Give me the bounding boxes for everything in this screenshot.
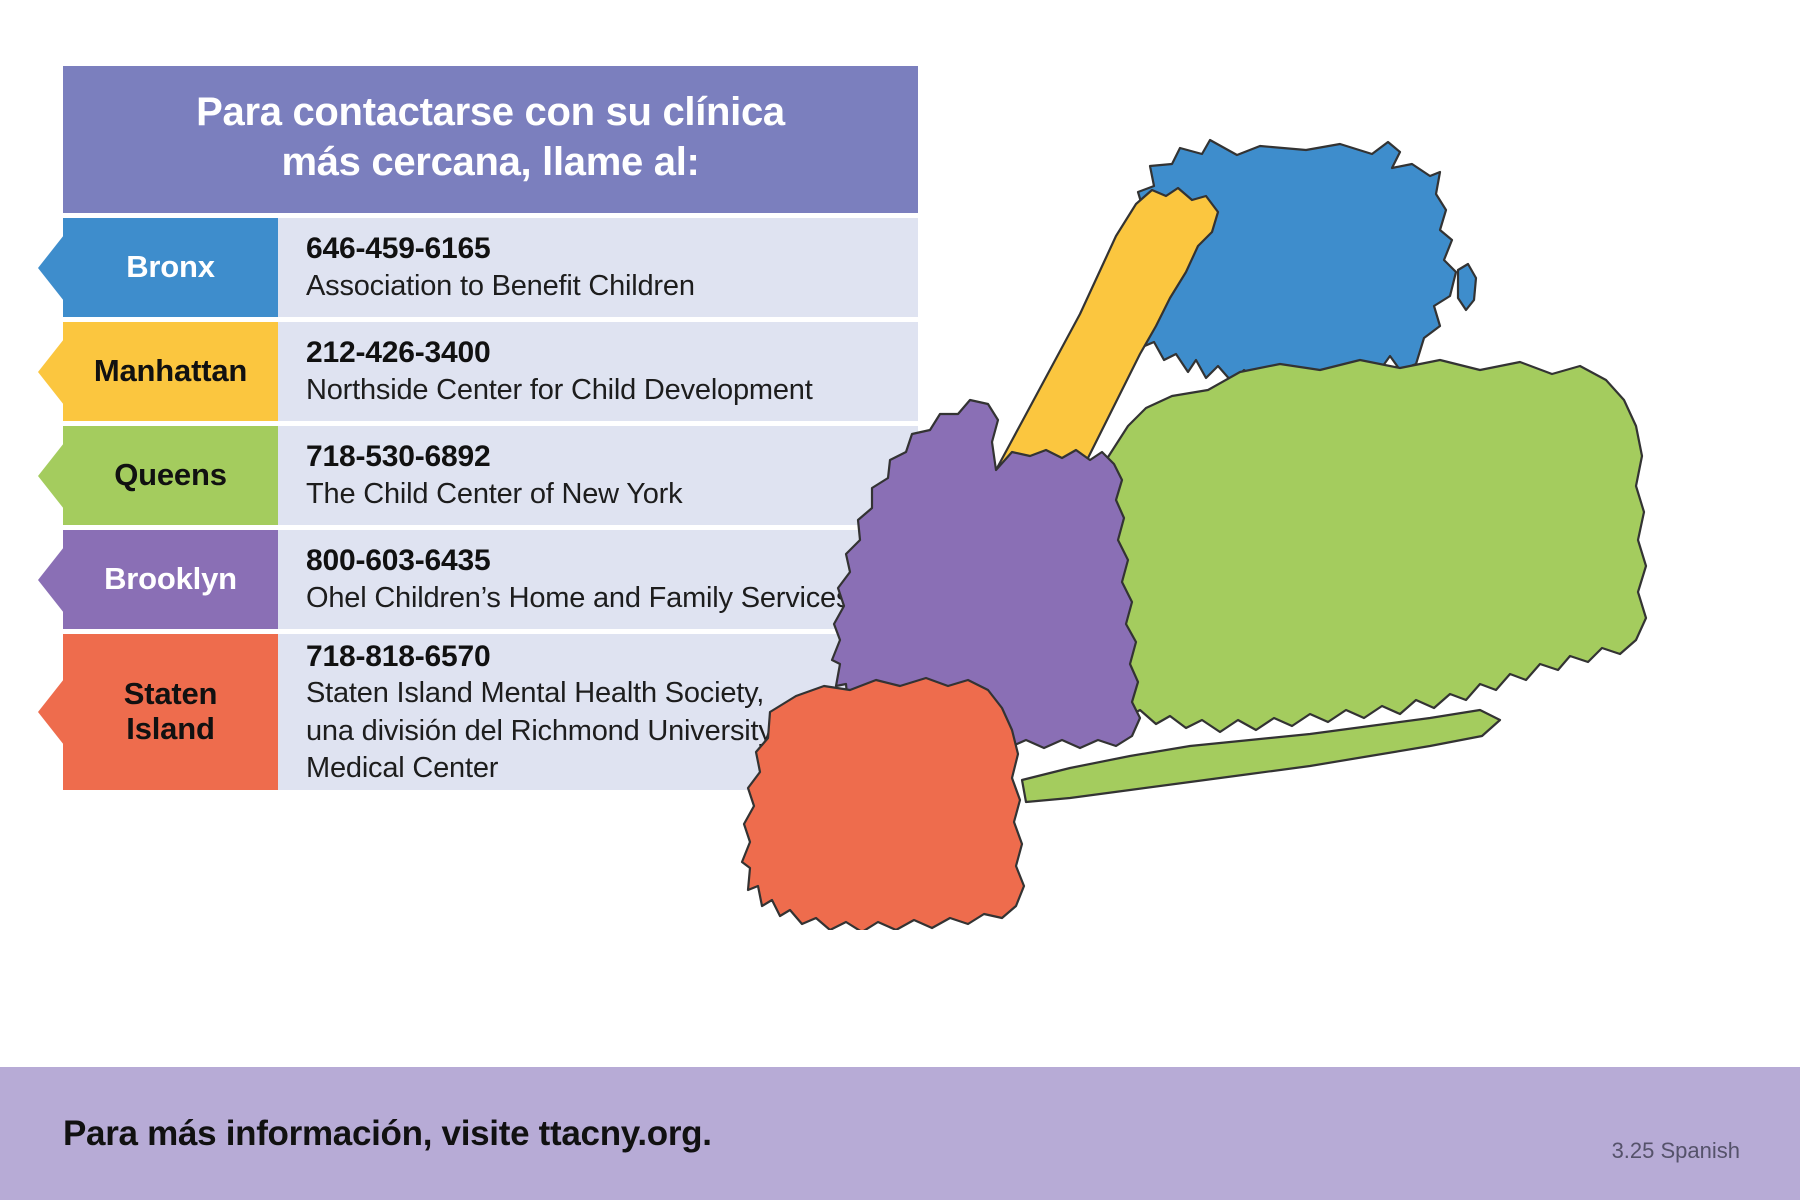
version-label: 3.25 Spanish — [1612, 1138, 1740, 1164]
borough-name: Brooklyn — [104, 562, 237, 597]
map-region-bronx-island — [1458, 264, 1476, 310]
footer-bar: Para más información, visite ttacny.org.… — [0, 1067, 1800, 1200]
borough-name-line-1: Staten — [124, 676, 218, 711]
footer-info-text[interactable]: Para más información, visite ttacny.org. — [63, 1114, 712, 1154]
borough-label-manhattan: Manhattan — [63, 322, 278, 421]
borough-name: Queens — [114, 458, 227, 493]
borough-name: Bronx — [126, 250, 215, 285]
borough-name: Manhattan — [94, 354, 247, 389]
map-region-staten-island[interactable] — [742, 678, 1024, 930]
borough-label-bronx: Bronx — [63, 218, 278, 317]
borough-name-line-2: Island — [126, 711, 214, 746]
borough-label-queens: Queens — [63, 426, 278, 525]
borough-label-staten-island: Staten Island — [63, 634, 278, 790]
nyc-borough-map — [740, 120, 1770, 930]
borough-label-brooklyn: Brooklyn — [63, 530, 278, 629]
